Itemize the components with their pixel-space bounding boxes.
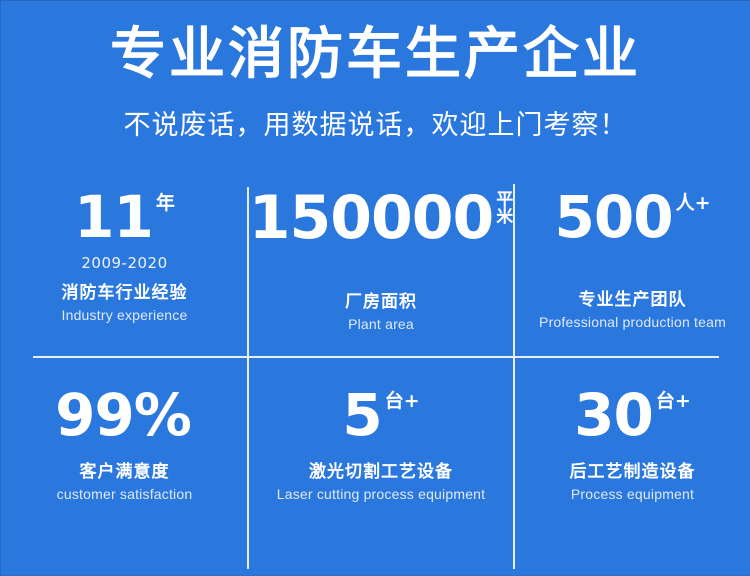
stat-cell-laser-cutting: 5 台+ 激光切割工艺设备 Laser cutting process equi…: [248, 356, 514, 536]
stat-label-en: Process equipment: [571, 486, 694, 502]
stat-number: 99%: [55, 388, 191, 443]
stat-label-cn: 专业生产团队: [579, 285, 687, 310]
stat-label-cn: 消防车行业经验: [62, 278, 188, 303]
stat-number: 11: [74, 190, 153, 245]
stat-unit: 台+: [385, 392, 420, 412]
stat-label-cn: 厂房面积: [345, 287, 417, 312]
stat-label-en: customer satisfaction: [57, 486, 193, 502]
stat-number-row: 500 人+: [555, 190, 711, 245]
stat-label-cn: 激光切割工艺设备: [309, 457, 453, 482]
stat-unit-line2: 米: [496, 209, 513, 226]
stat-unit: 年: [156, 194, 175, 214]
stats-grid: 11 年 2009-2020 消防车行业经验 Industry experien…: [1, 176, 750, 571]
stat-cell-plant-area: 150000 平 米 厂房面积 Plant area: [248, 176, 514, 356]
stat-label-en: Plant area: [348, 316, 414, 332]
stat-cell-production-team: 500 人+ 专业生产团队 Professional production te…: [514, 176, 750, 356]
stat-number-row: 11 年: [74, 190, 175, 245]
page-title: 专业消防车生产企业: [1, 23, 750, 87]
stat-cell-industry-experience: 11 年 2009-2020 消防车行业经验 Industry experien…: [1, 176, 248, 356]
stat-label-en: Laser cutting process equipment: [277, 486, 486, 502]
stat-label-cn: 后工艺制造设备: [570, 457, 696, 482]
stat-cell-process-equipment: 30 台+ 后工艺制造设备 Process equipment: [514, 356, 750, 536]
stat-number: 500: [555, 190, 673, 245]
stat-number-row: 150000 平 米: [249, 190, 514, 247]
page-subtitle: 不说废话，用数据说话，欢迎上门考察！: [1, 103, 750, 142]
stat-number: 30: [574, 388, 653, 443]
promo-banner: { "header": { "title": "专业消防车生产企业", "sub…: [0, 0, 750, 576]
stat-unit: 台+: [656, 392, 691, 412]
stat-number: 150000: [249, 190, 494, 247]
stat-cell-customer-satisfaction: 99% 客户满意度 customer satisfaction: [1, 356, 248, 536]
stat-number-row: 5 台+: [342, 388, 419, 443]
stat-label-en: Industry experience: [62, 307, 188, 323]
stat-number-row: 99%: [55, 388, 194, 443]
stats-section: 11 年 2009-2020 消防车行业经验 Industry experien…: [1, 176, 750, 571]
stat-unit: 人+: [676, 194, 711, 214]
stat-label-cn: 客户满意度: [80, 457, 170, 482]
stat-range: 2009-2020: [81, 254, 167, 272]
stat-unit: 平 米: [496, 192, 513, 227]
stat-label-en: Professional production team: [539, 314, 726, 330]
stat-number: 5: [342, 388, 381, 443]
banner-header: 专业消防车生产企业 不说废话，用数据说话，欢迎上门考察！: [1, 1, 750, 142]
stat-number-row: 30 台+: [574, 388, 691, 443]
